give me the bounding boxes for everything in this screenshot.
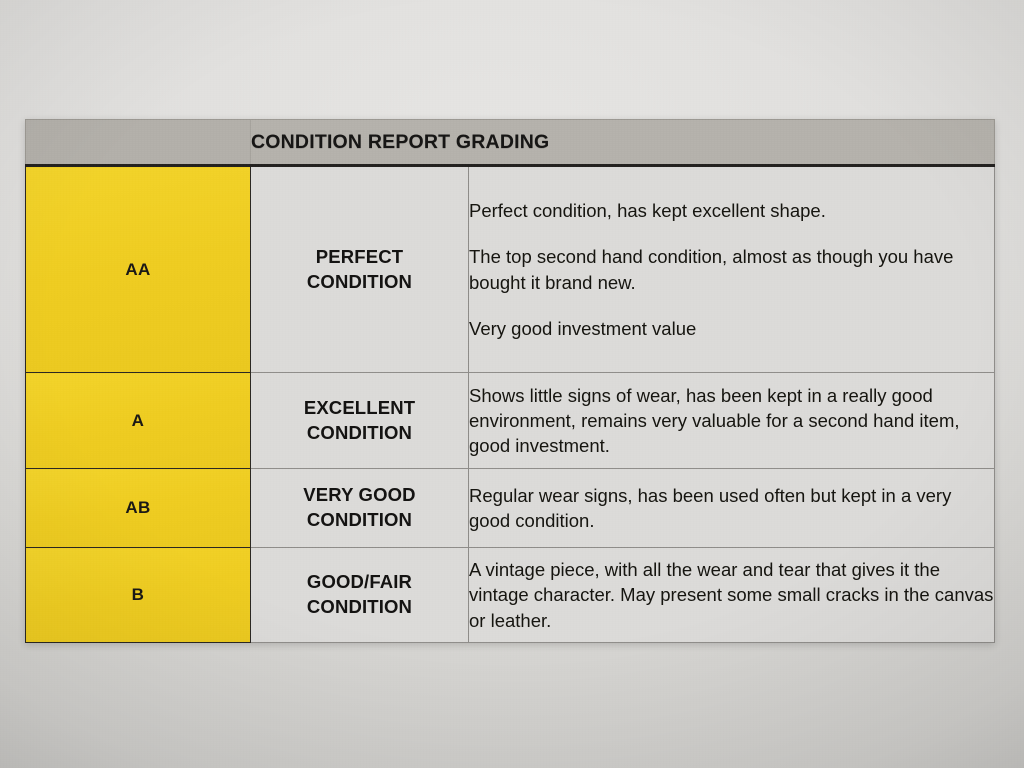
- condition-label-aa: PERFECT CONDITION: [251, 166, 469, 373]
- table-row: AB VERY GOOD CONDITION Regular wear sign…: [26, 469, 995, 548]
- condition-label-line-2: CONDITION: [251, 270, 468, 295]
- condition-label-ab: VERY GOOD CONDITION: [251, 469, 469, 548]
- header-blank-cell: [26, 120, 251, 166]
- table-header: CONDITION REPORT GRADING: [26, 120, 995, 166]
- description-paragraph: A vintage piece, with all the wear and t…: [469, 557, 994, 632]
- description-paragraph: Shows little signs of wear, has been kep…: [469, 383, 994, 458]
- grade-badge-aa: AA: [26, 166, 251, 373]
- description-b: A vintage piece, with all the wear and t…: [469, 548, 995, 643]
- condition-label-line-1: EXCELLENT: [251, 396, 468, 421]
- table-row: B GOOD/FAIR CONDITION A vintage piece, w…: [26, 548, 995, 643]
- grade-badge-a: A: [26, 373, 251, 469]
- description-paragraph: Very good investment value: [469, 316, 994, 341]
- condition-label-line-2: CONDITION: [251, 421, 468, 446]
- condition-label-line-1: VERY GOOD: [251, 483, 468, 508]
- condition-label-line-2: CONDITION: [251, 595, 468, 620]
- description-aa: Perfect condition, has kept excellent sh…: [469, 166, 995, 373]
- description-paragraph: Regular wear signs, has been used often …: [469, 483, 994, 533]
- description-paragraph: The top second hand condition, almost as…: [469, 244, 994, 294]
- condition-label-line-2: CONDITION: [251, 508, 468, 533]
- condition-label-b: GOOD/FAIR CONDITION: [251, 548, 469, 643]
- description-ab: Regular wear signs, has been used often …: [469, 469, 995, 548]
- condition-label-a: EXCELLENT CONDITION: [251, 373, 469, 469]
- page-title: CONDITION REPORT GRADING: [251, 120, 995, 166]
- table-row: A EXCELLENT CONDITION Shows little signs…: [26, 373, 995, 469]
- photo-page: CONDITION REPORT GRADING AA PERFECT COND…: [0, 0, 1024, 768]
- table-row: AA PERFECT CONDITION Perfect condition, …: [26, 166, 995, 373]
- condition-label-line-1: PERFECT: [251, 245, 468, 270]
- table-body: AA PERFECT CONDITION Perfect condition, …: [26, 166, 995, 643]
- grade-badge-b: B: [26, 548, 251, 643]
- description-a: Shows little signs of wear, has been kep…: [469, 373, 995, 469]
- condition-report-grading-table: CONDITION REPORT GRADING AA PERFECT COND…: [25, 119, 995, 643]
- grade-badge-ab: AB: [26, 469, 251, 548]
- header-row: CONDITION REPORT GRADING: [26, 120, 995, 166]
- description-paragraph: Perfect condition, has kept excellent sh…: [469, 198, 994, 223]
- condition-label-line-1: GOOD/FAIR: [251, 570, 468, 595]
